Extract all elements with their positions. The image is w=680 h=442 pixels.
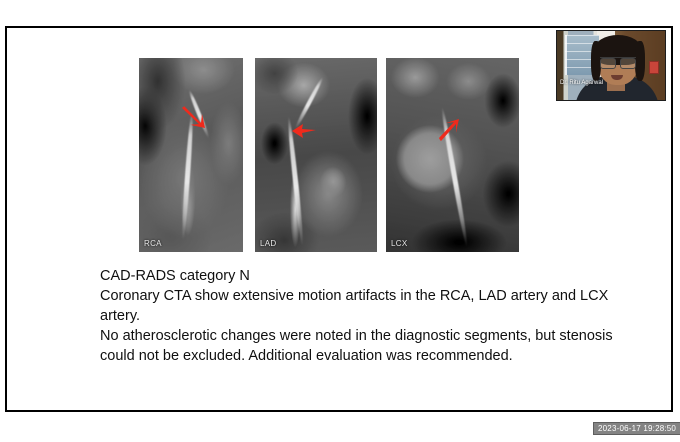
presenter-hair-right bbox=[635, 41, 645, 81]
report-line-findings: Coronary CTA show extensive motion artif… bbox=[100, 286, 620, 326]
report-line-category: CAD-RADS category N bbox=[100, 266, 620, 286]
screen-root: RCA LAD LCX bbox=[0, 0, 680, 442]
ct-panel-rca[interactable]: RCA bbox=[139, 58, 243, 252]
glasses-lens-left bbox=[600, 58, 616, 69]
report-text-block: CAD-RADS category N Coronary CTA show ex… bbox=[100, 266, 620, 366]
ct-image-strip: RCA LAD LCX bbox=[139, 58, 519, 254]
glasses-lens-right bbox=[620, 58, 636, 69]
wall-switch-icon bbox=[649, 61, 659, 74]
report-line-conclusion: No atherosclerotic changes were noted in… bbox=[100, 326, 620, 366]
glasses-icon bbox=[600, 57, 636, 67]
ct-label-lad: LAD bbox=[260, 239, 276, 248]
ct-label-lcx: LCX bbox=[391, 239, 407, 248]
presenter-video-tile[interactable]: Dr. Ritu Agarwal bbox=[556, 30, 666, 101]
timestamp-badge: 2023-06-17 19:28:50 bbox=[593, 422, 680, 435]
ct-panel-lad[interactable]: LAD bbox=[255, 58, 377, 252]
presenter-name-label: Dr. Ritu Agarwal bbox=[560, 80, 603, 86]
ct-label-rca: RCA bbox=[144, 239, 162, 248]
ct-panel-lcx[interactable]: LCX bbox=[386, 58, 519, 252]
